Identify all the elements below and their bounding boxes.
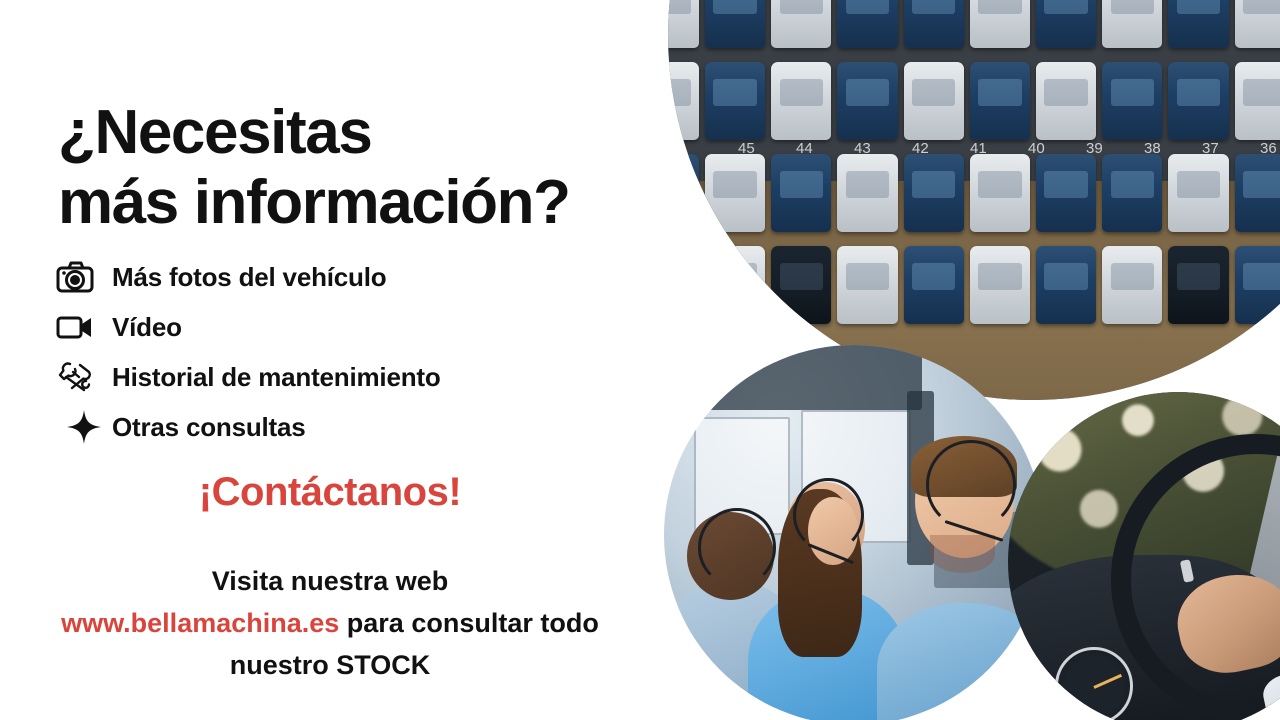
headset-icon bbox=[793, 478, 864, 552]
parked-car bbox=[1168, 246, 1228, 324]
parked-car bbox=[1102, 154, 1162, 232]
tools-wrench-icon bbox=[56, 360, 112, 394]
video-camera-icon bbox=[56, 312, 112, 342]
car-row bbox=[668, 0, 1280, 48]
parked-car bbox=[1036, 62, 1096, 140]
list-item: Vídeo bbox=[56, 302, 441, 352]
footer-line-2: www.bellamachina.es para consultar todo bbox=[0, 602, 660, 644]
parked-car bbox=[970, 0, 1030, 48]
feature-list: Más fotos del vehículo Vídeo bbox=[56, 252, 441, 452]
parked-car bbox=[1036, 154, 1096, 232]
driver-steering-wheel-photo bbox=[1008, 392, 1280, 720]
parked-car bbox=[705, 0, 765, 48]
car-lot-surface: 4544434241403938373635 bbox=[668, 0, 1280, 400]
lot-marker: 44 bbox=[796, 140, 813, 157]
footer-line-3: nuestro STOCK bbox=[0, 644, 660, 686]
car-row bbox=[668, 154, 1280, 232]
lot-marker: 38 bbox=[1144, 140, 1161, 157]
parked-car bbox=[1036, 0, 1096, 48]
parked-car bbox=[1168, 0, 1228, 48]
list-item-label: Otras consultas bbox=[112, 412, 306, 443]
parked-car bbox=[705, 62, 765, 140]
parked-car bbox=[970, 62, 1030, 140]
parked-car bbox=[1102, 62, 1162, 140]
website-url-link[interactable]: www.bellamachina.es bbox=[61, 608, 339, 638]
parked-car bbox=[970, 246, 1030, 324]
lot-marker: 39 bbox=[1086, 140, 1103, 157]
parked-car bbox=[668, 0, 699, 48]
lot-marker: 41 bbox=[970, 140, 987, 157]
parked-car bbox=[668, 154, 699, 232]
lot-marker: 43 bbox=[854, 140, 871, 157]
lot-marker: 37 bbox=[1202, 140, 1219, 157]
speedometer-gauge bbox=[1055, 647, 1133, 720]
footer-line-2-rest: para consultar todo bbox=[339, 608, 599, 638]
list-item: Otras consultas bbox=[56, 402, 441, 452]
parked-car bbox=[837, 0, 897, 48]
list-item-label: Historial de mantenimiento bbox=[112, 362, 441, 393]
car-row bbox=[668, 246, 1280, 324]
list-item: Más fotos del vehículo bbox=[56, 252, 441, 302]
parked-car bbox=[1235, 0, 1280, 48]
parked-car bbox=[904, 154, 964, 232]
parked-car bbox=[1036, 246, 1096, 324]
lot-marker: 40 bbox=[1028, 140, 1045, 157]
promo-banner: 4544434241403938373635 bbox=[0, 0, 1280, 720]
parked-car bbox=[1102, 0, 1162, 48]
parked-car bbox=[837, 246, 897, 324]
parked-car bbox=[904, 62, 964, 140]
aerial-car-lot-photo: 4544434241403938373635 bbox=[668, 0, 1280, 400]
camera-icon bbox=[56, 261, 112, 293]
gauge-needle bbox=[1094, 674, 1123, 689]
parked-car bbox=[1235, 62, 1280, 140]
parked-car bbox=[771, 154, 831, 232]
parked-car bbox=[1168, 62, 1228, 140]
parked-car bbox=[1102, 246, 1162, 324]
parked-car bbox=[668, 62, 699, 140]
parked-car bbox=[970, 154, 1030, 232]
parked-car bbox=[1235, 246, 1280, 324]
agent-front-beard bbox=[930, 535, 995, 573]
ceiling-beam bbox=[687, 345, 923, 410]
lot-marker: 42 bbox=[912, 140, 929, 157]
list-item: Historial de mantenimiento bbox=[56, 352, 441, 402]
cta-contact-text: ¡Contáctanos! bbox=[0, 470, 660, 515]
list-item-label: Vídeo bbox=[112, 312, 182, 343]
parked-car bbox=[771, 246, 831, 324]
parked-car bbox=[1168, 154, 1228, 232]
parked-car bbox=[837, 154, 897, 232]
parked-car bbox=[904, 246, 964, 324]
parked-car bbox=[705, 246, 765, 324]
parked-car bbox=[1235, 154, 1280, 232]
parked-car bbox=[771, 62, 831, 140]
headset-icon bbox=[926, 440, 1016, 530]
parked-car bbox=[837, 62, 897, 140]
sparkle-star-icon bbox=[56, 410, 112, 444]
parked-car bbox=[668, 246, 699, 324]
headset-icon bbox=[698, 508, 776, 586]
lot-marker: 36 bbox=[1260, 140, 1277, 157]
parked-car bbox=[904, 0, 964, 48]
call-center-team-photo bbox=[664, 345, 1044, 720]
footer-website-block: Visita nuestra web www.bellamachina.es p… bbox=[0, 560, 660, 686]
footer-line-1: Visita nuestra web bbox=[0, 560, 660, 602]
parked-car bbox=[771, 0, 831, 48]
parked-car bbox=[705, 154, 765, 232]
page-title: ¿Necesitas más información? bbox=[58, 98, 570, 238]
lot-marker: 45 bbox=[738, 140, 755, 157]
list-item-label: Más fotos del vehículo bbox=[112, 262, 386, 293]
car-row bbox=[668, 62, 1280, 140]
